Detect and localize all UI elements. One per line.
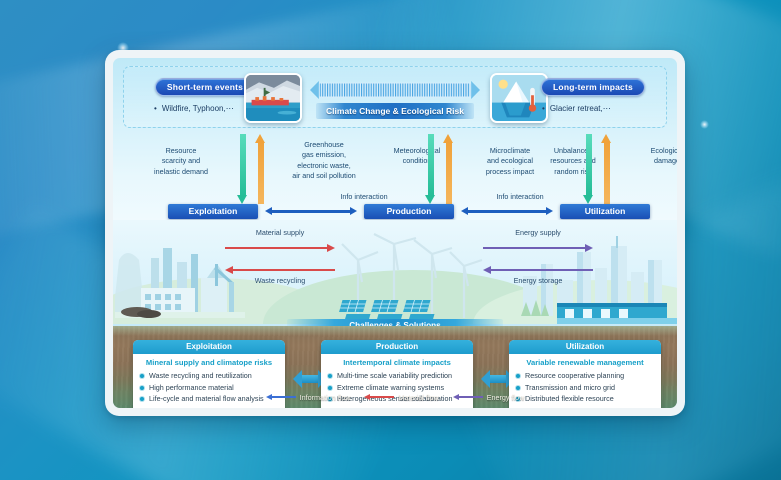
- landscape-scene: Material supply Waste recycling Energy s…: [113, 220, 677, 324]
- ground-highlight: [113, 326, 677, 336]
- flow-label-energy-supply: Energy supply: [483, 228, 593, 237]
- ground-section: Exploitation Mineral supply and climatop…: [113, 326, 677, 408]
- info-interaction-label-left: Info interaction: [309, 192, 419, 201]
- flow-arrow-energy-storage: [483, 266, 593, 274]
- sparkle-icon: [700, 120, 709, 129]
- legend-item-information-flow: Information flow: [266, 393, 351, 402]
- arrow-up-ecological-damage: [601, 134, 612, 204]
- flow-arrow-material-supply: [225, 244, 335, 252]
- arrow-left-icon: [453, 394, 483, 401]
- short-term-events-badge: Short-term events: [155, 78, 255, 96]
- arrow-left-icon: [266, 394, 296, 401]
- legend-label: Energy flow: [487, 393, 525, 402]
- card-subtitle: Variable renewable management: [509, 358, 661, 367]
- arrow-up-greenhouse-gas: [255, 134, 266, 204]
- wildfire-coastal-photo: [244, 73, 302, 123]
- legend-label: Information flow: [300, 393, 351, 402]
- legend-item-material-flow: Material flow: [364, 393, 438, 402]
- arrow-down-resource-scarcity: [237, 134, 248, 204]
- flow-arrow-waste-recycling: [225, 266, 335, 274]
- arrow-down-unbalanced-resources: [583, 134, 594, 204]
- card-subtitle: Intertemporal climate impacts: [321, 358, 473, 367]
- long-term-impacts-badge: Long-term impacts: [541, 78, 645, 96]
- double-headed-striped-arrow-icon: [310, 79, 480, 101]
- long-term-impacts-group: Long-term impacts Glacier retreat,⋯: [530, 77, 656, 113]
- info-arrow-exploitation-production: [265, 207, 357, 216]
- card-header: Production: [321, 340, 473, 354]
- hazard-row: Short-term events Wildfire, Typhoon,⋯: [123, 66, 667, 128]
- node-production[interactable]: Production: [364, 204, 454, 219]
- node-utilization[interactable]: Utilization: [560, 204, 650, 219]
- flow-label-energy-storage: Energy storage: [483, 276, 593, 285]
- figure-canvas: Short-term events Wildfire, Typhoon,⋯: [113, 58, 677, 408]
- card-header: Exploitation: [133, 340, 285, 354]
- list-item: Multi-time scale variability prediction: [327, 370, 467, 382]
- card-header: Utilization: [509, 340, 661, 354]
- card-subtitle: Mineral supply and climatope risks: [133, 358, 285, 367]
- flow-label-waste-recycling: Waste recycling: [225, 276, 335, 285]
- info-interaction-label-right: Info interaction: [465, 192, 575, 201]
- legend: Information flow Material flow Energy fl…: [113, 391, 677, 403]
- climate-change-banner: Climate Change & Ecological Risk: [310, 79, 480, 119]
- node-exploitation[interactable]: Exploitation: [168, 204, 258, 219]
- driver-text: Ecologicaldamage: [611, 146, 677, 167]
- climate-change-label: Climate Change & Ecological Risk: [316, 103, 474, 119]
- legend-item-energy-flow: Energy flow: [453, 393, 525, 402]
- flow-arrow-energy-supply: [483, 244, 593, 252]
- figure-window: Short-term events Wildfire, Typhoon,⋯: [105, 50, 685, 416]
- info-arrow-production-utilization: [461, 207, 553, 216]
- list-item: Waste recycling and reutilization: [139, 370, 279, 382]
- long-term-impacts-note: Glacier retreat,⋯: [530, 104, 656, 113]
- arrow-left-icon: [364, 394, 394, 401]
- flow-label-material-supply: Material supply: [225, 228, 335, 237]
- wind-turbines-solar-panels-scene: [328, 232, 498, 324]
- arrow-up-microclimate-impact: [443, 134, 454, 204]
- legend-label: Material flow: [398, 393, 438, 402]
- arrow-down-meteorological-condition: [425, 134, 436, 204]
- list-item: Resource cooperative planning: [515, 370, 655, 382]
- driver-text: Resourcescarcity andinelastic demand: [125, 146, 237, 177]
